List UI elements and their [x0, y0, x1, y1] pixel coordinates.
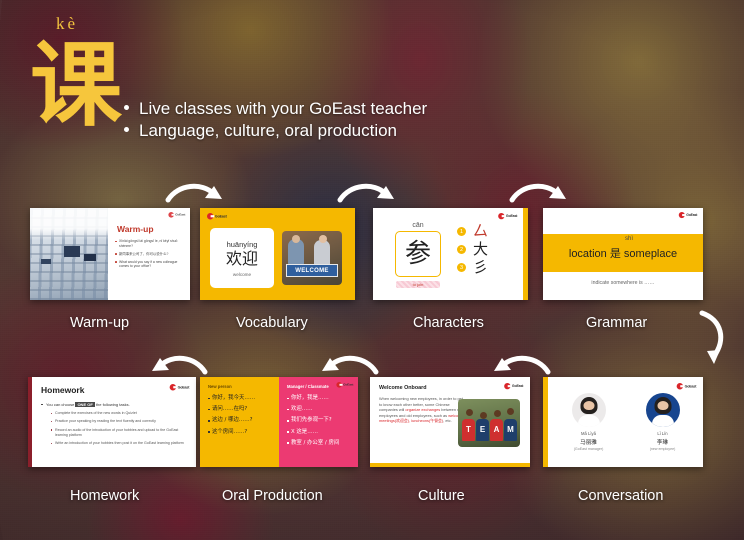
person-hanzi: 李琳 — [637, 438, 689, 446]
team-shirt-letter: T — [462, 419, 475, 441]
card-conversation[interactable]: GoEast Mǎ Lìyǎ 马丽雅 (GoEast manager) Lǐ L… — [543, 377, 703, 467]
caption-grammar: Grammar — [586, 315, 647, 331]
oral-manager-panel: GoEast Manager / Classmate 你好，我是…… 欢迎…… … — [279, 377, 358, 467]
person-role: (new employee) — [637, 447, 689, 451]
goeast-logo-text: GoEast — [506, 214, 517, 218]
person-head-shape — [466, 409, 473, 416]
goeast-logo-text: GoEast — [686, 213, 697, 217]
avatar — [646, 393, 680, 427]
caption-oral-production: Oral Production — [222, 488, 323, 504]
homework-title: Homework — [41, 385, 187, 395]
goeast-mark-icon — [498, 213, 504, 219]
goeast-mark-icon — [169, 384, 175, 390]
person-head-shape — [480, 412, 487, 419]
goeast-logo-text: GoEast — [512, 384, 523, 388]
caption-conversation: Conversation — [578, 488, 663, 504]
team-shirt-letter: A — [490, 419, 503, 441]
arrow-warmup-to-vocabulary — [168, 186, 214, 200]
oral-right-item: 教室 / 办公室 / 房间 — [287, 440, 350, 447]
caption-warmup: Warm-up — [70, 315, 129, 331]
caption-culture: Culture — [418, 488, 465, 504]
goeast-mark-icon — [168, 212, 174, 218]
goeast-mark-icon — [504, 383, 510, 389]
arrow-oral-to-homework — [160, 358, 205, 372]
warmup-list-item: Xīnlái gōngsī lái gōngsī le, nǐ kěyǐ shu… — [115, 239, 183, 248]
arrow-characters-to-grammar — [512, 186, 558, 200]
goeast-logo: GoEast — [678, 212, 697, 218]
oral-new-person-panel: New person 你好，我今天…… 请问……在吗? 这边 / 哪边……? 这… — [200, 377, 279, 467]
oral-left-item: 你好，我今天…… — [208, 395, 271, 402]
header-bullet-item: Language, culture, oral production — [124, 120, 427, 142]
oral-left-item: 这个房间……? — [208, 429, 271, 436]
culture-text-highlight: organize exchanges — [405, 407, 440, 412]
goeast-logo: GoEast — [498, 213, 517, 219]
arrowhead-icon — [549, 186, 566, 199]
caption-vocabulary: Vocabulary — [236, 315, 308, 331]
header-bullet-item: Live classes with your GoEast teacher — [124, 98, 427, 120]
card-characters[interactable]: GoEast cān 参 to join 1 厶 2 大 3 彡 — [373, 208, 528, 300]
avatar-body-shape — [652, 415, 674, 427]
homework-task-item: Practice your speaking by reading the te… — [51, 419, 187, 424]
homework-task-list: Complete the exercises of the new words … — [41, 411, 187, 446]
card-culture[interactable]: GoEast Welcome Onboard When welcoming ne… — [370, 377, 530, 467]
culture-paragraph: When welcoming new employees, in order t… — [379, 396, 465, 424]
homework-lead-highlight: ONE OF — [75, 402, 94, 407]
card-homework[interactable]: GoEast Homework You can choose ONE OF th… — [28, 377, 196, 467]
characters-pinyin: cān — [387, 222, 449, 229]
header-hanzi: 课 — [30, 40, 122, 132]
oral-right-item: 欢迎…… — [287, 406, 350, 413]
person-pinyin: Lǐ Lín — [637, 431, 689, 436]
header-bullet-list: Live classes with your GoEast teacher La… — [124, 98, 427, 142]
header-bullet-text: Live classes with your GoEast teacher — [139, 98, 427, 120]
card-oral-production[interactable]: New person 你好，我今天…… 请问……在吗? 这边 / 哪边……? 这… — [200, 377, 358, 467]
avatar-hair-shape — [580, 397, 597, 414]
characters-stroke-row: 1 厶 — [457, 224, 488, 239]
oral-right-item: X 这是…… — [287, 429, 350, 436]
homework-task-item: Write an introduction of your hobbies th… — [51, 441, 187, 446]
goeast-logo: GoEast — [169, 384, 189, 390]
oral-right-list: 你好，我是…… 欢迎…… 我们先参观一下? X 这是…… 教室 / 办公室 / … — [287, 395, 350, 447]
card-warmup[interactable]: GoEast Warm-up Xīnlái gōngsī lái gōngsī … — [30, 208, 190, 300]
person-role: (GoEast manager) — [563, 447, 615, 451]
stroke-number: 3 — [457, 263, 466, 272]
goeast-logo-text: GoEast — [684, 384, 696, 388]
characters-meaning: to join — [396, 281, 440, 288]
avatar-hair-shape — [654, 397, 671, 414]
grammar-pattern-right: someplace — [621, 248, 677, 260]
avatar — [572, 393, 606, 427]
goeast-logo-text: GoEast — [343, 383, 353, 387]
stroke-glyph: 厶 — [473, 224, 488, 239]
characters-hanzi: 参 — [395, 231, 441, 277]
oral-right-item: 你好，我是…… — [287, 395, 350, 402]
stroke-number: 2 — [457, 245, 466, 254]
arrow-culture-to-oral — [330, 358, 376, 372]
stroke-glyph: 大 — [473, 242, 488, 257]
arrow-grammar-to-conversation — [702, 313, 721, 356]
oral-left-item: 这边 / 哪边……? — [208, 417, 271, 424]
homework-lead-before: You can choose — [46, 402, 75, 407]
arrowhead-icon — [377, 186, 394, 199]
goeast-logo: GoEast — [504, 383, 523, 389]
team-shirt-letter: E — [476, 419, 489, 441]
card-vocabulary[interactable]: GoEast huānyíng 欢迎 welcome WELCOME — [200, 208, 355, 300]
person-head-shape — [292, 235, 300, 243]
conversation-person: Lǐ Lín 李琳 (new employee) — [637, 393, 689, 451]
culture-text-part: , etc. — [443, 418, 451, 423]
grammar-note: indicate somewhere is …… — [543, 280, 703, 286]
person-pinyin: Mǎ Lìyǎ — [563, 431, 615, 436]
vocabulary-word-box: huānyíng 欢迎 welcome — [210, 228, 274, 288]
warmup-question-list: Xīnlái gōngsī lái gōngsī le, nǐ kěyǐ shu… — [115, 239, 183, 269]
oral-right-item: 我们先参观一下? — [287, 417, 350, 424]
welcome-sign: WELCOME — [286, 264, 338, 277]
goeast-logo: GoEast — [168, 212, 185, 218]
oral-left-item: 请问……在吗? — [208, 406, 271, 413]
goeast-logo: GoEast — [676, 383, 696, 389]
goeast-logo-text: GoEast — [175, 213, 185, 217]
arrowhead-icon — [494, 358, 511, 371]
goeast-logo: GoEast — [207, 213, 227, 219]
goeast-mark-icon — [207, 213, 213, 219]
warmup-office-photo — [30, 208, 108, 300]
team-shirt-letter: M — [504, 419, 517, 441]
oral-left-list: 你好，我今天…… 请问……在吗? 这边 / 哪边……? 这个房间……? — [208, 395, 271, 436]
stroke-number: 1 — [457, 227, 466, 236]
bullet-dot-icon — [124, 105, 129, 110]
header: kè 课 Live classes with your GoEast teach… — [0, 0, 744, 170]
vocabulary-content: huānyíng 欢迎 welcome WELCOME — [210, 228, 342, 288]
card-grammar[interactable]: GoEast shì location 是 someplace indicate… — [543, 208, 703, 300]
header-pinyin: kè — [56, 14, 78, 34]
caption-homework: Homework — [70, 488, 139, 504]
goeast-mark-icon — [336, 382, 342, 388]
characters-main: cān 参 to join — [387, 222, 449, 288]
grammar-pattern-band: shì location 是 someplace — [543, 234, 703, 272]
arrowhead-icon — [205, 186, 222, 199]
person-head-shape — [507, 408, 514, 415]
grammar-pattern: shì location 是 someplace — [569, 245, 677, 261]
grammar-pattern-char: 是 — [610, 247, 621, 260]
homework-lead: You can choose ONE OF the following task… — [41, 402, 187, 407]
warmup-list-item: What would you say if a new colleague co… — [115, 260, 183, 269]
characters-stroke-row: 3 彡 — [457, 260, 488, 275]
arrowhead-icon — [152, 358, 169, 371]
arrowhead-icon — [322, 358, 339, 371]
header-bullet-text: Language, culture, oral production — [139, 120, 397, 142]
goeast-logo-text: GoEast — [177, 385, 189, 389]
vocabulary-couple-photo: WELCOME — [282, 231, 342, 285]
vocabulary-hanzi: 欢迎 — [226, 251, 258, 267]
homework-task-item: Complete the exercises of the new words … — [51, 411, 187, 416]
characters-stroke-list: 1 厶 2 大 3 彡 — [457, 224, 488, 278]
conversation-person: Mǎ Lìyǎ 马丽雅 (GoEast manager) — [563, 393, 615, 451]
person-hanzi: 马丽雅 — [563, 438, 615, 446]
grammar-pattern-left: location — [569, 248, 610, 260]
goeast-mark-icon — [676, 383, 682, 389]
arrow-vocabulary-to-characters — [340, 186, 386, 200]
warmup-list-item: 新同事来公司了，你可以说什么? — [115, 252, 183, 257]
arrow-conversation-to-culture — [502, 358, 548, 372]
culture-team-photo: T E A M — [458, 399, 520, 447]
grammar-ruby-pinyin: shì — [625, 236, 633, 242]
vocabulary-pinyin: huānyíng — [227, 240, 258, 249]
goeast-logo: GoEast — [336, 382, 353, 388]
stroke-glyph: 彡 — [473, 260, 488, 275]
person-head-shape — [494, 410, 501, 417]
warmup-body: GoEast Warm-up Xīnlái gōngsī lái gōngsī … — [108, 208, 190, 300]
culture-title: Welcome Onboard — [379, 385, 521, 391]
goeast-mark-icon — [678, 212, 684, 218]
oral-left-heading: New person — [208, 384, 271, 389]
goeast-logo-text: GoEast — [215, 214, 227, 218]
vocabulary-english: welcome — [233, 272, 251, 277]
homework-lead-after: the following tasks. — [95, 402, 130, 407]
avatar-body-shape — [578, 415, 600, 427]
arrowhead-icon — [707, 350, 720, 364]
caption-characters: Characters — [413, 315, 484, 331]
characters-stroke-row: 2 大 — [457, 242, 488, 257]
bullet-dot-icon — [124, 127, 129, 132]
warmup-title: Warm-up — [117, 224, 183, 234]
homework-task-item: Record an audio of the introduction of y… — [51, 428, 187, 438]
